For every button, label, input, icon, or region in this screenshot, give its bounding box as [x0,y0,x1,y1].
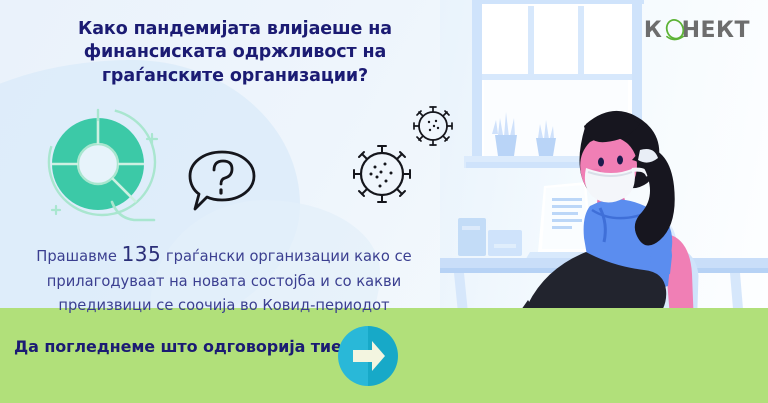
books-icon [458,218,522,256]
logo-text-before: К [644,18,662,43]
respondent-count: 135 [122,242,162,266]
arrow-right-icon[interactable] [337,325,399,387]
cta-label[interactable]: Да погледнеме што одговорија тие [14,337,342,356]
body-lead: Прашавме [36,248,117,265]
logo-text-after: НЕКТ [682,18,750,43]
virus-icon-small [411,104,455,148]
virus-icon-large [351,143,413,205]
konekt-logo[interactable]: КОНЕКТ [644,16,750,46]
infographic-canvas: Како пандемијата влијаеше на финансискат… [0,0,768,403]
body-paragraph: Прашавме 135 граѓански организации како … [18,238,430,318]
speech-bubble-question-icon [186,147,258,217]
page-title: Како пандемијата влијаеше на финансискат… [40,18,430,88]
donut-chart-icon [40,102,170,234]
logo-wordmark: КОНЕКТ [644,20,750,42]
